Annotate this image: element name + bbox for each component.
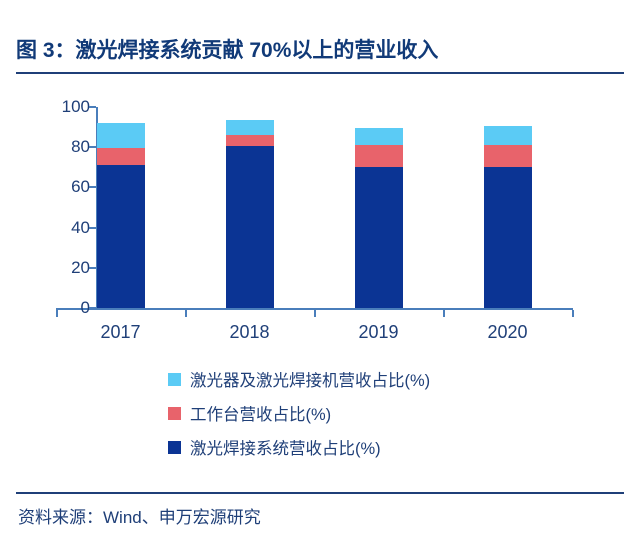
legend-label: 激光焊接系统营收占比(%)	[190, 435, 381, 459]
page-title: 图 3：激光焊接系统贡献 70%以上的营业收入	[16, 34, 438, 64]
y-tick-mark	[89, 106, 96, 108]
x-tick-label: 2019	[334, 322, 424, 343]
y-tick-mark	[89, 267, 96, 269]
bar-segment	[355, 145, 403, 167]
legend-swatch-icon	[168, 441, 181, 454]
x-tick-label: 2017	[76, 322, 166, 343]
y-tick-mark	[89, 307, 96, 309]
figure-title-row: 图 3：激光焊接系统贡献 70%以上的营业收入	[16, 30, 624, 68]
y-tick-mark	[89, 186, 96, 188]
bar-stack	[484, 126, 532, 308]
bar-segment	[355, 128, 403, 145]
legend-swatch-icon	[168, 407, 181, 420]
bar-segment	[484, 145, 532, 167]
chart-plot-area: 020406080100 2017201820192020	[0, 90, 640, 330]
y-tick-value: 40	[52, 218, 90, 238]
footer-divider	[16, 492, 624, 494]
chart-legend: 激光器及激光焊接机营收占比(%)工作台营收占比(%)激光焊接系统营收占比(%)	[168, 362, 588, 464]
legend-item[interactable]: 激光器及激光焊接机营收占比(%)	[168, 362, 588, 396]
x-tick-label: 2020	[463, 322, 553, 343]
y-tick-mark	[89, 227, 96, 229]
bar-stack	[97, 123, 145, 308]
y-tick-value: 100	[52, 97, 90, 117]
x-tick-mark	[56, 310, 58, 317]
bar-segment	[97, 165, 145, 308]
bar-segment	[355, 167, 403, 308]
x-tick-mark	[443, 310, 445, 317]
source-note: 资料来源：Wind、申万宏源研究	[18, 503, 261, 528]
y-tick-value: 60	[52, 177, 90, 197]
legend-item[interactable]: 工作台营收占比(%)	[168, 396, 588, 430]
x-tick-mark	[314, 310, 316, 317]
bar-segment	[484, 167, 532, 308]
figure-card: 图 3：激光焊接系统贡献 70%以上的营业收入 020406080100 201…	[0, 0, 640, 549]
x-tick-mark	[572, 310, 574, 317]
legend-label: 激光器及激光焊接机营收占比(%)	[190, 367, 430, 391]
legend-swatch-icon	[168, 373, 181, 386]
y-tick-mark	[89, 146, 96, 148]
bar-segment	[484, 126, 532, 145]
bar-segment	[97, 148, 145, 165]
x-tick-mark	[185, 310, 187, 317]
y-tick-value: 20	[52, 258, 90, 278]
x-tick-label: 2018	[205, 322, 295, 343]
legend-label: 工作台营收占比(%)	[190, 401, 331, 425]
bar-segment	[226, 135, 274, 146]
legend-item[interactable]: 激光焊接系统营收占比(%)	[168, 430, 588, 464]
bar-stack	[355, 128, 403, 308]
bar-segment	[226, 120, 274, 135]
bar-stack	[226, 120, 274, 308]
y-tick-value: 80	[52, 137, 90, 157]
bar-segment	[97, 123, 145, 148]
title-divider	[16, 72, 624, 74]
bar-segment	[226, 146, 274, 308]
